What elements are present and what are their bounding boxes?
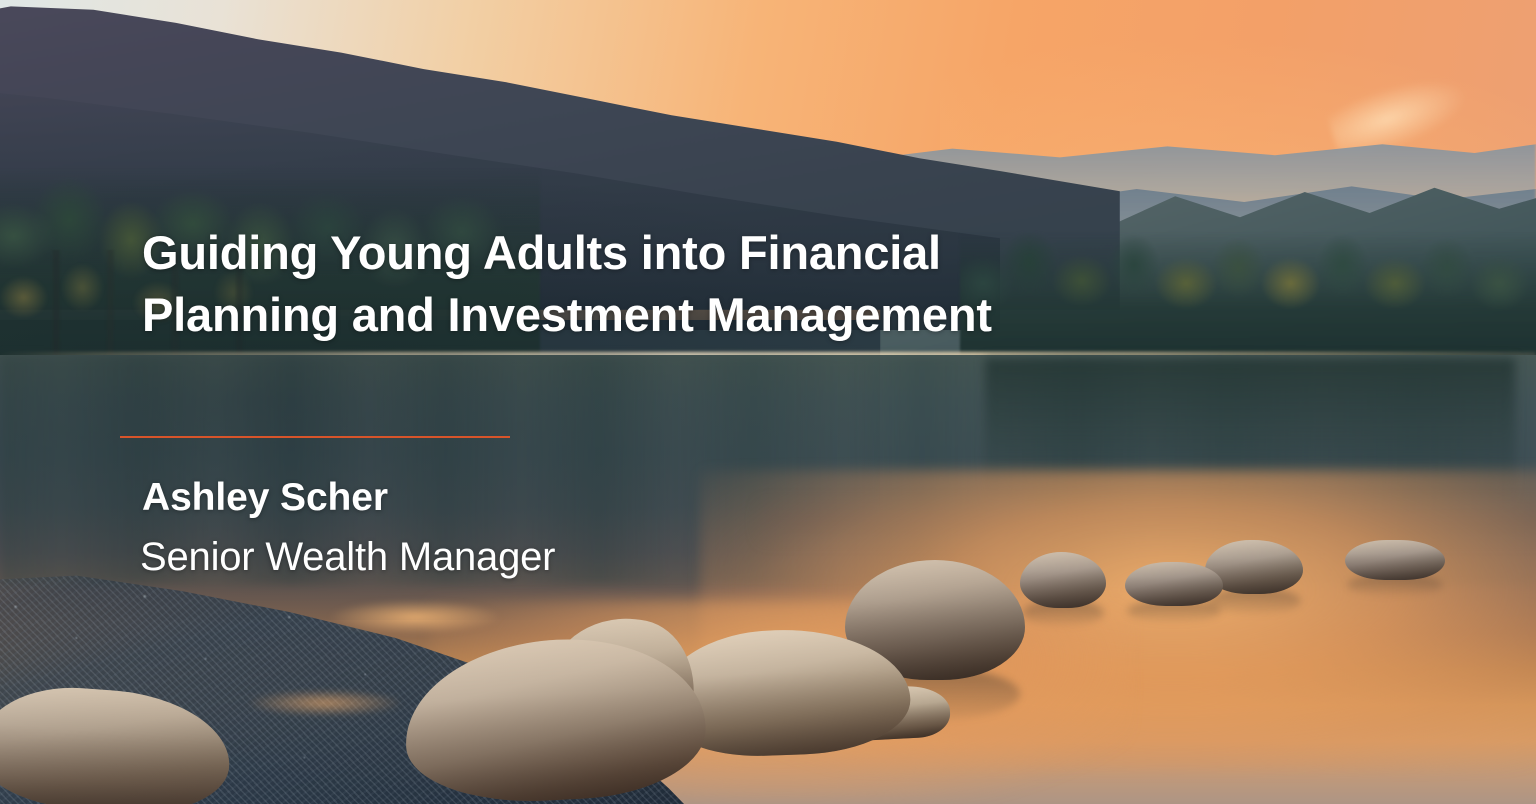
presenter-name: Ashley Scher — [142, 474, 388, 522]
title-slide: Guiding Young Adults into Financial Plan… — [0, 0, 1536, 804]
presenter-role: Senior Wealth Manager — [140, 533, 555, 581]
slide-content: Guiding Young Adults into Financial Plan… — [0, 0, 1536, 804]
slide-title: Guiding Young Adults into Financial Plan… — [142, 222, 1042, 346]
accent-divider — [120, 436, 510, 438]
